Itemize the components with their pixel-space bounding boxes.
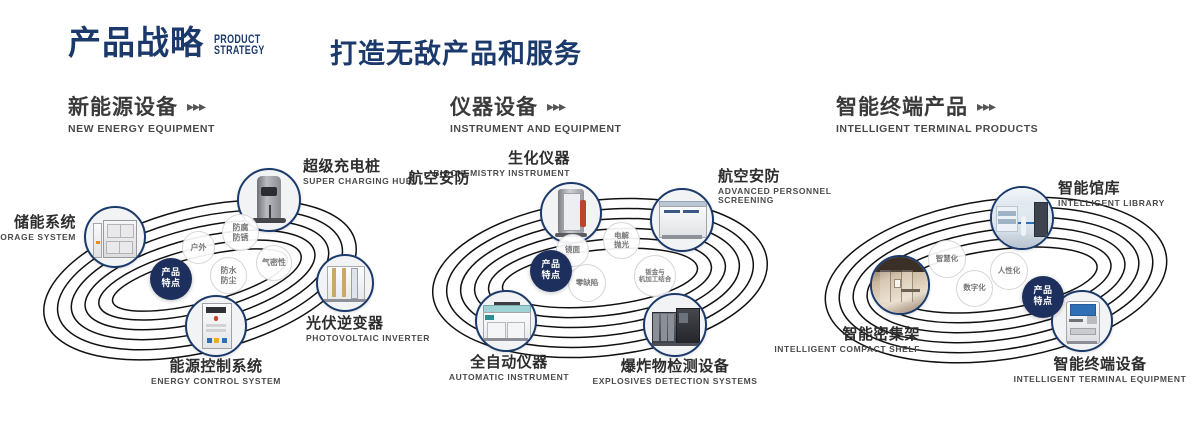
feature-line: 防尘 — [221, 276, 237, 285]
node-label-compact-shelf: 智能密集架 INTELLIGENT COMPACT SHELF — [760, 326, 920, 354]
feature-bubble-humanized: 人性化 — [990, 252, 1028, 290]
node-label-en: ENERGY STORAGE SYSTEM — [0, 233, 76, 243]
node-label-energy-storage: 储能系统 ENERGY STORAGE SYSTEM — [0, 214, 76, 242]
node-pv-inverter[interactable] — [316, 254, 374, 312]
page-title-en: PRODUCT STRATEGY — [214, 35, 265, 57]
compact-shelf-icon — [872, 257, 928, 313]
section-title-instrument: 仪器设备 ▸▸▸ INSTRUMENT AND EQUIPMENT — [450, 96, 621, 135]
page-title: 产品战略 — [68, 26, 204, 59]
control-cabinet-icon — [187, 297, 245, 355]
node-label-en: ENERGY CONTROL SYSTEM — [86, 377, 346, 387]
section-title-intelligent-terminal: 智能终端产品 ▸▸▸ INTELLIGENT TERMINAL PRODUCTS — [836, 96, 1038, 135]
feature-bubble-electropolish: 电解 抛光 — [603, 222, 640, 259]
feature-bubble-airtight: 气密性 — [256, 245, 292, 281]
feature-line: 机加工结合 — [639, 276, 672, 283]
energy-storage-cabinet-icon — [86, 208, 144, 266]
photovoltaic-inverter-icon — [318, 256, 372, 310]
page-header: 产品战略 PRODUCT STRATEGY — [68, 26, 279, 59]
page-title-en-line2: STRATEGY — [214, 46, 265, 57]
product-features-badge: 产品 特点 — [1022, 276, 1064, 318]
node-label-intelligent-library: 智能馆库 INTELLIGENT LIBRARY — [1058, 180, 1200, 208]
chevron-right-icon: ▸▸▸ — [977, 100, 995, 115]
node-label-cn: 智能终端设备 — [1000, 356, 1200, 373]
feature-line: 人性化 — [998, 267, 1021, 276]
node-compact-shelf[interactable] — [870, 255, 930, 315]
intelligent-library-icon — [992, 188, 1052, 248]
diagram-group-new-energy: 储能系统 ENERGY STORAGE SYSTEM 超级充电桩 SUPER C… — [0, 150, 400, 410]
node-explosives-detection[interactable] — [643, 293, 707, 357]
node-energy-storage[interactable] — [84, 206, 146, 268]
node-label-cn: 储能系统 — [0, 214, 76, 231]
section-title-new-energy: 新能源设备 ▸▸▸ NEW ENERGY EQUIPMENT — [68, 96, 215, 135]
node-label-cn: 全自动仪器 — [414, 354, 604, 371]
feature-bubble-waterproof: 防水 防尘 — [210, 257, 247, 294]
badge-line2: 特点 — [161, 279, 180, 290]
section-title-cn-text: 新能源设备 — [68, 96, 178, 118]
node-label-en: AUTOMATIC INSTRUMENT — [414, 373, 604, 383]
feature-bubble-outdoor: 户外 — [182, 231, 215, 264]
feature-line: 零缺陷 — [576, 279, 599, 288]
node-intelligent-library[interactable] — [990, 186, 1054, 250]
node-label-cn: 航空安防 — [408, 170, 518, 187]
node-label-energy-control: 能源控制系统 ENERGY CONTROL SYSTEM — [86, 358, 346, 386]
node-label-cn: 智能密集架 — [760, 326, 920, 343]
node-label-intelligent-terminal: 智能终端设备 INTELLIGENT TERMINAL EQUIPMENT — [1000, 356, 1200, 384]
feature-bubble-smart: 智慧化 — [928, 240, 966, 278]
node-label-en: EXPLOSIVES DETECTION SYSTEMS — [580, 377, 770, 387]
diagram-group-instrument: 生化仪器 BIOCHEMISTRY INSTRUMENT 航空安防 航空安防 A… — [400, 150, 800, 410]
badge-line1: 产品 — [1033, 286, 1052, 297]
node-personnel-screening[interactable] — [650, 188, 714, 252]
badge-line2: 特点 — [541, 271, 560, 282]
feature-line: 防水 — [221, 266, 237, 275]
feature-line: 防腐 — [233, 223, 249, 232]
chevron-right-icon: ▸▸▸ — [187, 100, 205, 115]
product-features-badge: 产品 特点 — [150, 258, 192, 300]
feature-bubble-digital: 数字化 — [956, 270, 993, 307]
automatic-instrument-icon — [477, 292, 535, 350]
badge-line1: 产品 — [161, 268, 180, 279]
section-title-en: INSTRUMENT AND EQUIPMENT — [450, 123, 621, 135]
section-title-cn: 仪器设备 ▸▸▸ — [450, 96, 621, 118]
feature-line: 抛光 — [614, 241, 629, 250]
node-label-cn: 生化仪器 — [380, 150, 570, 167]
feature-line: 户外 — [191, 243, 207, 252]
node-label-en: INTELLIGENT COMPACT SHELF — [760, 345, 920, 355]
explosives-detection-icon — [645, 295, 705, 355]
product-features-badge: 产品 特点 — [530, 250, 572, 292]
feature-line: 智慧化 — [936, 255, 959, 264]
feature-bubble-anticorrosion: 防腐 防锈 — [222, 214, 259, 251]
infographic-page: 产品战略 PRODUCT STRATEGY 打造无敌产品和服务 新能源设备 ▸▸… — [0, 0, 1200, 422]
node-label-cn: 爆炸物检测设备 — [580, 358, 770, 375]
page-slogan: 打造无敌产品和服务 — [330, 32, 582, 71]
feature-line: 防锈 — [233, 233, 249, 242]
node-label-cn: 能源控制系统 — [86, 358, 346, 375]
node-label-automatic-instrument: 全自动仪器 AUTOMATIC INSTRUMENT — [414, 354, 604, 382]
badge-line2: 特点 — [1033, 297, 1052, 308]
feature-line: 数字化 — [963, 284, 986, 293]
feature-bubble-sheetmetal-machining: 钣金与 机加工结合 — [634, 255, 676, 297]
section-title-cn: 新能源设备 ▸▸▸ — [68, 96, 215, 118]
node-label-aviation-security-left: 航空安防 — [408, 170, 518, 187]
node-energy-control[interactable] — [185, 295, 247, 357]
node-automatic-instrument[interactable] — [475, 290, 537, 352]
node-label-cn: 智能馆库 — [1058, 180, 1200, 197]
node-label-en: INTELLIGENT LIBRARY — [1058, 199, 1200, 209]
node-label-explosives-detection: 爆炸物检测设备 EXPLOSIVES DETECTION SYSTEMS — [580, 358, 770, 386]
chevron-right-icon: ▸▸▸ — [547, 100, 565, 115]
feature-line: 镜面 — [565, 246, 580, 255]
section-title-cn: 智能终端产品 ▸▸▸ — [836, 96, 1038, 118]
feature-bubble-zero-defect: 零缺陷 — [568, 264, 606, 302]
feature-line: 气密性 — [262, 258, 286, 267]
node-label-en: INTELLIGENT TERMINAL EQUIPMENT — [1000, 375, 1200, 385]
section-title-en: INTELLIGENT TERMINAL PRODUCTS — [836, 123, 1038, 135]
personnel-screening-icon — [652, 190, 712, 250]
section-title-cn-text: 仪器设备 — [450, 96, 538, 118]
diagram-group-intelligent-terminal: 智能馆库 INTELLIGENT LIBRARY 智能密集架 INTELLIGE… — [800, 150, 1200, 410]
section-title-en: NEW ENERGY EQUIPMENT — [68, 123, 215, 135]
section-title-cn-text: 智能终端产品 — [836, 96, 968, 118]
badge-line1: 产品 — [541, 260, 560, 271]
